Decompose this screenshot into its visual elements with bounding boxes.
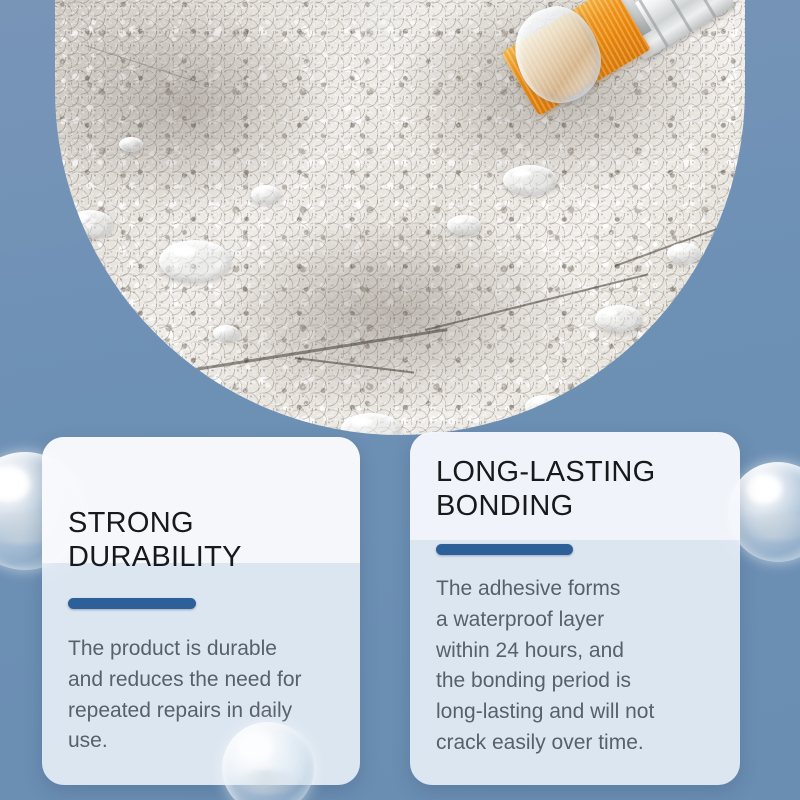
water-droplet	[55, 305, 97, 329]
water-stream	[341, 0, 413, 75]
card-title-strong-durability: STRONG DURABILITY	[68, 507, 334, 574]
water-droplet	[667, 243, 701, 264]
product-feature-banner: STRONG DURABILITY The product is durable…	[0, 0, 800, 800]
water-droplet	[119, 137, 143, 152]
brush-bristles	[501, 0, 651, 116]
ferrule-band	[686, 0, 716, 18]
card-body: STRONG DURABILITY The product is durable…	[42, 437, 360, 757]
ferrule-band	[638, 0, 668, 47]
water-droplet	[341, 413, 401, 435]
concrete-slab-texture	[55, 0, 745, 435]
concrete-crack	[85, 45, 200, 83]
clear-adhesive-blob	[504, 0, 612, 113]
concrete-grit-overlay	[55, 0, 745, 435]
feature-card-long-lasting-bonding[interactable]: LONG-LASTING BONDING The adhesive forms …	[410, 432, 740, 785]
aggregate-patch	[395, 0, 725, 195]
concrete-crack	[295, 357, 414, 373]
card-text-long-lasting-bonding: The adhesive forms a waterproof layer wi…	[436, 574, 714, 758]
water-droplet	[67, 210, 113, 238]
hero-photo-circle	[55, 0, 745, 435]
feature-card-strong-durability[interactable]: STRONG DURABILITY The product is durable…	[42, 437, 360, 785]
concrete-crack	[151, 328, 448, 377]
water-droplet	[595, 305, 643, 332]
brush-neck	[584, 0, 651, 57]
water-droplet	[503, 165, 557, 195]
concrete-crack	[425, 273, 649, 331]
accent-bar-long-lasting-bonding	[436, 544, 573, 555]
card-title-long-lasting-bonding: LONG-LASTING BONDING	[436, 456, 714, 523]
water-droplet	[159, 240, 231, 282]
water-droplet	[447, 215, 481, 235]
water-droplet	[213, 325, 239, 341]
water-droplet	[251, 185, 281, 204]
aggregate-patch	[205, 215, 585, 415]
brush-ferrule	[616, 0, 745, 60]
concrete-crack	[615, 214, 745, 267]
card-body: LONG-LASTING BONDING The adhesive forms …	[410, 432, 740, 758]
ferrule-band	[662, 0, 692, 33]
aggregate-patch	[55, 0, 335, 210]
water-droplet	[525, 395, 565, 418]
accent-bar-strong-durability	[68, 598, 196, 609]
